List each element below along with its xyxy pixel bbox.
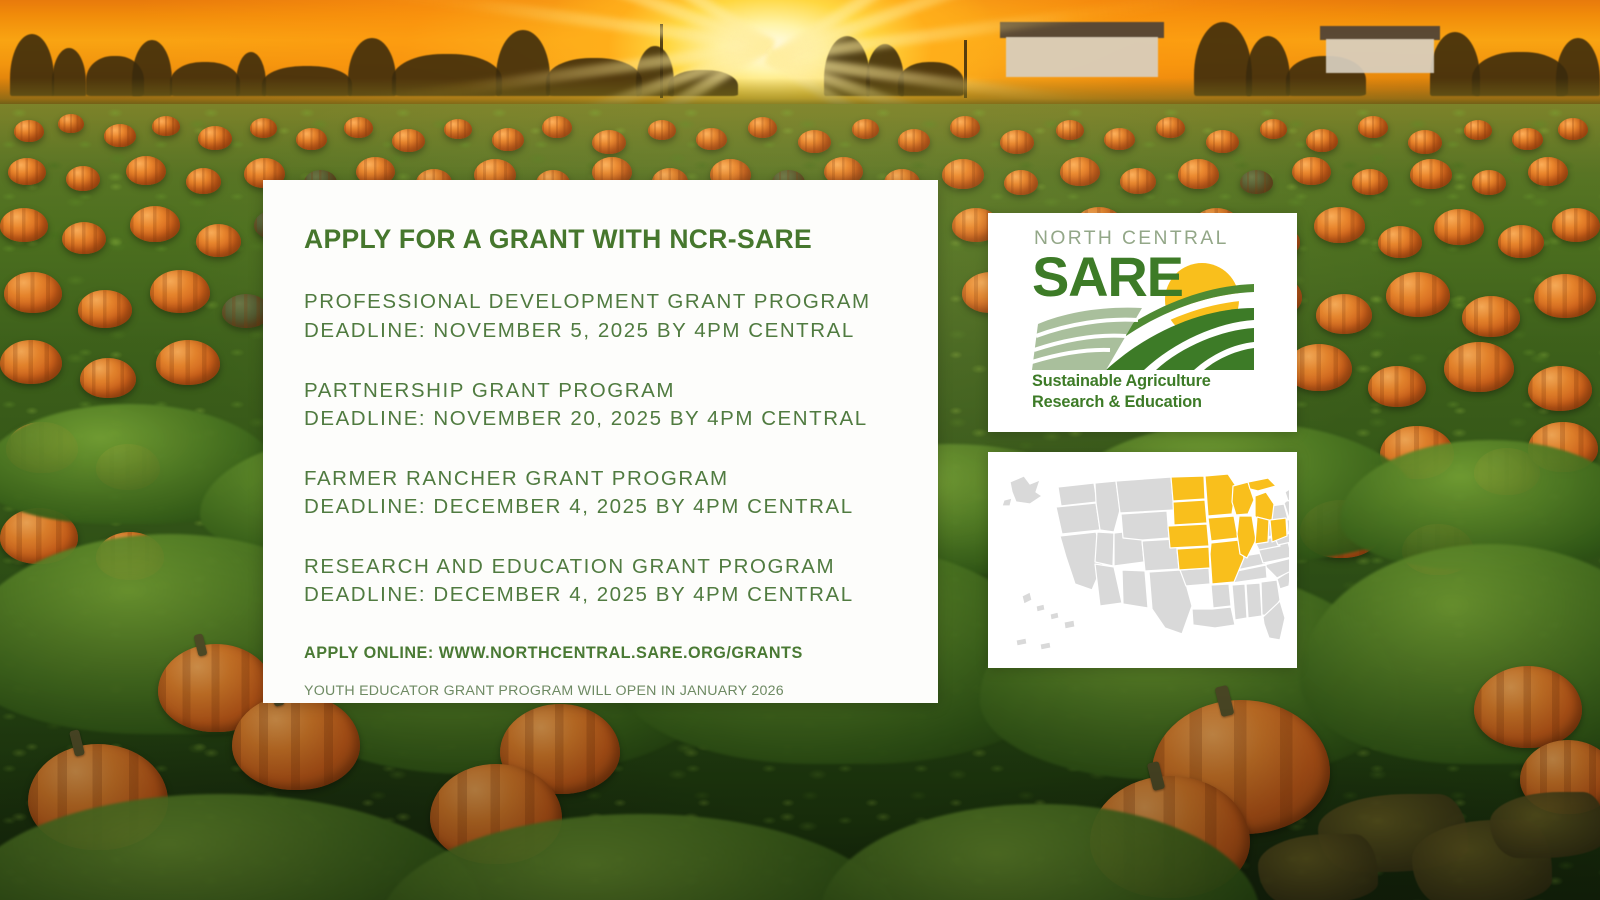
state-minnesota xyxy=(1205,474,1236,516)
program-entry-professional-development: PROFESSIONAL DEVELOPMENT GRANT PROGRAM D… xyxy=(304,288,898,344)
alaska-inset xyxy=(1010,476,1042,504)
program-deadline: DEADLINE: NOVEMBER 5, 2025 BY 4PM CENTRA… xyxy=(304,317,898,345)
state-michigan-upper xyxy=(1248,478,1276,491)
apply-online-link[interactable]: APPLY ONLINE: WWW.NORTHCENTRAL.SARE.ORG/… xyxy=(304,644,898,663)
youth-educator-note: YOUTH EDUCATOR GRANT PROGRAM WILL OPEN I… xyxy=(304,683,898,699)
page-title: APPLY FOR A GRANT WITH NCR-SARE xyxy=(304,224,898,254)
logo-artwork: SARE xyxy=(1032,250,1254,370)
program-name: RESEARCH AND EDUCATION GRANT PROGRAM xyxy=(304,553,898,581)
program-name: PROFESSIONAL DEVELOPMENT GRANT PROGRAM xyxy=(304,288,898,316)
program-name: PARTNERSHIP GRANT PROGRAM xyxy=(304,377,898,405)
state-north-dakota xyxy=(1171,476,1205,501)
ncr-sare-logo-card: NORTH CENTRAL SARE Sustainable Agricultu… xyxy=(988,213,1297,432)
state-kansas xyxy=(1177,547,1210,570)
program-name: FARMER RANCHER GRANT PROGRAM xyxy=(304,465,898,493)
united-states-map xyxy=(996,458,1289,662)
state-indiana xyxy=(1255,517,1269,544)
tree-line-silhouette xyxy=(0,0,1600,112)
logo-acronym: SARE xyxy=(1032,250,1183,304)
logo-region-text: NORTH CENTRAL xyxy=(1034,229,1254,248)
logo-tagline-line-1: Sustainable Agriculture xyxy=(1032,372,1254,391)
hawaii-inset xyxy=(1022,592,1032,604)
program-deadline: DEADLINE: DECEMBER 4, 2025 BY 4PM CENTRA… xyxy=(304,581,898,609)
region-map-card xyxy=(988,452,1297,668)
logo-tagline-line-2: Research & Education xyxy=(1032,393,1254,412)
program-entry-partnership: PARTNERSHIP GRANT PROGRAM DEADLINE: NOVE… xyxy=(304,377,898,433)
program-deadline: DEADLINE: DECEMBER 4, 2025 BY 4PM CENTRA… xyxy=(304,493,898,521)
state-nebraska xyxy=(1168,524,1209,548)
state-iowa xyxy=(1208,516,1238,541)
farmhouse-wall xyxy=(1006,37,1158,77)
ncr-sare-logo: NORTH CENTRAL SARE Sustainable Agricultu… xyxy=(1032,229,1254,419)
program-entry-research-and-education: RESEARCH AND EDUCATION GRANT PROGRAM DEA… xyxy=(304,553,898,609)
program-entry-farmer-rancher: FARMER RANCHER GRANT PROGRAM DEADLINE: D… xyxy=(304,465,898,521)
program-deadline: DEADLINE: NOVEMBER 20, 2025 BY 4PM CENTR… xyxy=(304,405,898,433)
state-illinois xyxy=(1237,516,1256,558)
grant-announcement-card: APPLY FOR A GRANT WITH NCR-SARE PROFESSI… xyxy=(263,180,938,703)
state-south-dakota xyxy=(1173,500,1207,525)
